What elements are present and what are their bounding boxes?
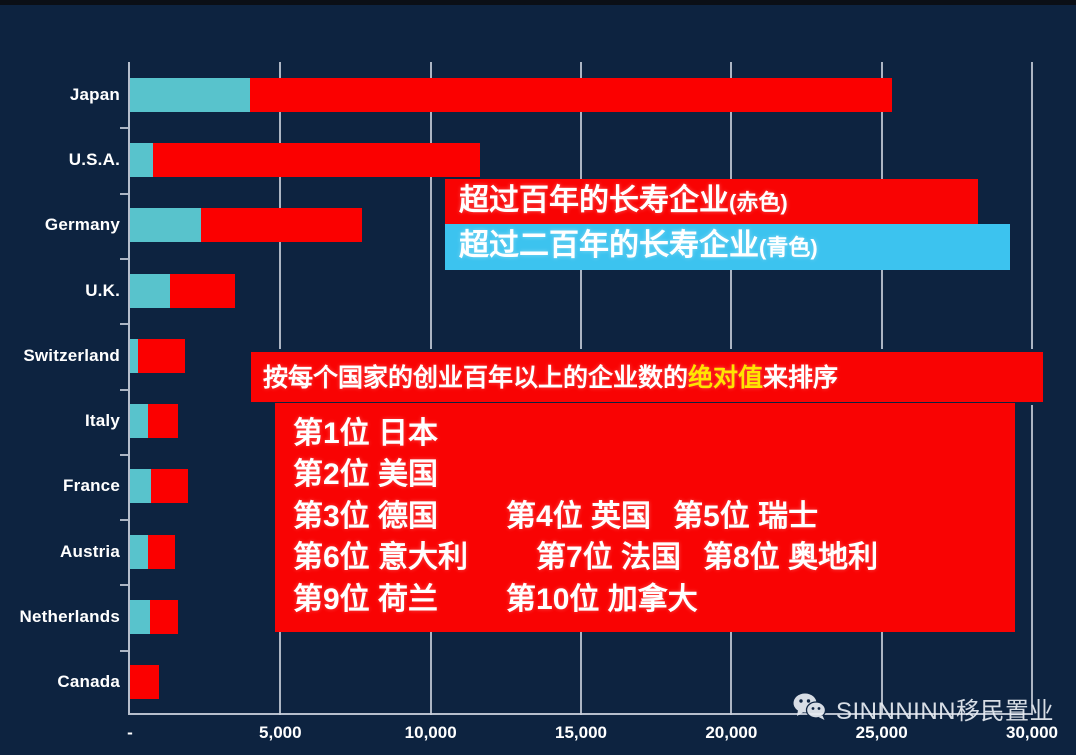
bar-segment-cyan	[130, 535, 148, 569]
y-axis-label-canada: Canada	[57, 672, 120, 692]
rank-line: 第1位 日本	[293, 413, 1015, 454]
bar-segment-red	[153, 143, 480, 177]
y-axis-labels: JapanU.S.A.GermanyU.K.SwitzerlandItalyFr…	[0, 5, 120, 755]
y-axis-tick	[120, 193, 128, 195]
sort-banner-prefix: 按每个国家的创业百年以上的企业数的	[263, 364, 688, 392]
bar-segment-cyan	[130, 600, 150, 634]
y-axis-label-france: France	[63, 476, 120, 496]
x-axis-tick-label: 5,000	[259, 723, 302, 743]
bar-segment-red	[130, 665, 159, 699]
wechat-icon	[793, 693, 827, 725]
watermark-text: SINNNINN移民置业	[836, 691, 1054, 726]
x-axis-tick-label: 10,000	[405, 723, 457, 743]
bar-segment-red	[148, 404, 178, 438]
legend-suffix-red: (赤色)	[729, 190, 788, 215]
legend-item-cyan: 超过二百年的长寿企业(青色)	[445, 224, 1010, 269]
rank-entry: 第9位 荷兰	[293, 583, 438, 616]
x-axis-tick-label: 30,000	[1006, 723, 1058, 743]
y-axis-label-austria: Austria	[60, 542, 120, 562]
rank-entry: 第3位 德国	[293, 500, 438, 533]
bar-segment-red	[150, 600, 178, 634]
legend-label-cyan: 超过二百年的长寿企业	[459, 229, 759, 262]
rank-entry: 第1位 日本	[293, 417, 438, 450]
y-axis-label-japan: Japan	[70, 85, 120, 105]
rank-line: 第6位 意大利第7位 法国第8位 奥地利	[293, 537, 1015, 578]
y-axis-label-germany: Germany	[45, 215, 120, 235]
bar-segment-cyan	[130, 404, 148, 438]
rank-entry: 第4位 英国	[506, 496, 651, 537]
x-axis-tick-label: 20,000	[705, 723, 757, 743]
rank-line: 第3位 德国第4位 英国第5位 瑞士	[293, 496, 1015, 537]
legend-label-red: 超过百年的长寿企业	[459, 184, 729, 217]
x-axis-tick-label: 25,000	[856, 723, 908, 743]
y-axis-tick	[120, 650, 128, 652]
rank-entry: 第2位 美国	[293, 458, 438, 491]
rank-line: 第2位 美国	[293, 454, 1015, 495]
y-axis-label-netherlands: Netherlands	[20, 607, 120, 627]
y-axis-label-italy: Italy	[85, 411, 120, 431]
y-axis-tick	[120, 454, 128, 456]
sort-banner-highlight: 绝对值	[688, 364, 763, 392]
y-axis-label-switzerland: Switzerland	[23, 346, 120, 366]
x-axis-tick-label: -	[127, 723, 133, 743]
bar-segment-cyan	[130, 339, 138, 373]
y-axis-tick	[120, 127, 128, 129]
rank-entry: 第7位 法国	[536, 537, 681, 578]
x-axis-tick-label: 15,000	[555, 723, 607, 743]
bar-segment-red	[250, 78, 892, 112]
y-axis-tick	[120, 389, 128, 391]
ranking-panel: 第1位 日本第2位 美国第3位 德国第4位 英国第5位 瑞士第6位 意大利第7位…	[275, 403, 1015, 632]
y-axis-label-usa: U.S.A.	[69, 150, 120, 170]
bar-segment-cyan	[130, 78, 250, 112]
bar-segment-red	[170, 274, 235, 308]
rank-entry: 第10位 加拿大	[506, 579, 698, 620]
rank-entry: 第6位 意大利	[293, 541, 468, 574]
bar-segment-red	[201, 208, 362, 242]
bar-segment-red	[151, 469, 188, 503]
y-axis-tick	[120, 519, 128, 521]
y-axis-tick	[120, 258, 128, 260]
legend: 超过百年的长寿企业(赤色) 超过二百年的长寿企业(青色)	[445, 179, 978, 270]
bar-segment-cyan	[130, 208, 201, 242]
rank-entry: 第8位 奥地利	[703, 537, 878, 578]
legend-suffix-cyan: (青色)	[759, 235, 818, 260]
sort-description-banner: 按每个国家的创业百年以上的企业数的绝对值来排序	[248, 349, 1046, 405]
rank-entry: 第5位 瑞士	[673, 496, 818, 537]
legend-item-red: 超过百年的长寿企业(赤色)	[445, 179, 978, 224]
y-axis-tick	[120, 584, 128, 586]
y-axis-label-uk: U.K.	[85, 281, 120, 301]
chart-screenshot: JapanU.S.A.GermanyU.K.SwitzerlandItalyFr…	[0, 0, 1076, 755]
watermark: SINNNINN移民置业	[793, 691, 1054, 726]
bar-segment-cyan	[130, 143, 153, 177]
bar-segment-red	[138, 339, 185, 373]
bar-segment-red	[148, 535, 175, 569]
rank-line: 第9位 荷兰第10位 加拿大	[293, 579, 1015, 620]
sort-banner-suffix: 来排序	[763, 364, 838, 392]
bar-segment-cyan	[130, 274, 170, 308]
bar-segment-cyan	[130, 469, 151, 503]
y-axis-tick	[120, 323, 128, 325]
